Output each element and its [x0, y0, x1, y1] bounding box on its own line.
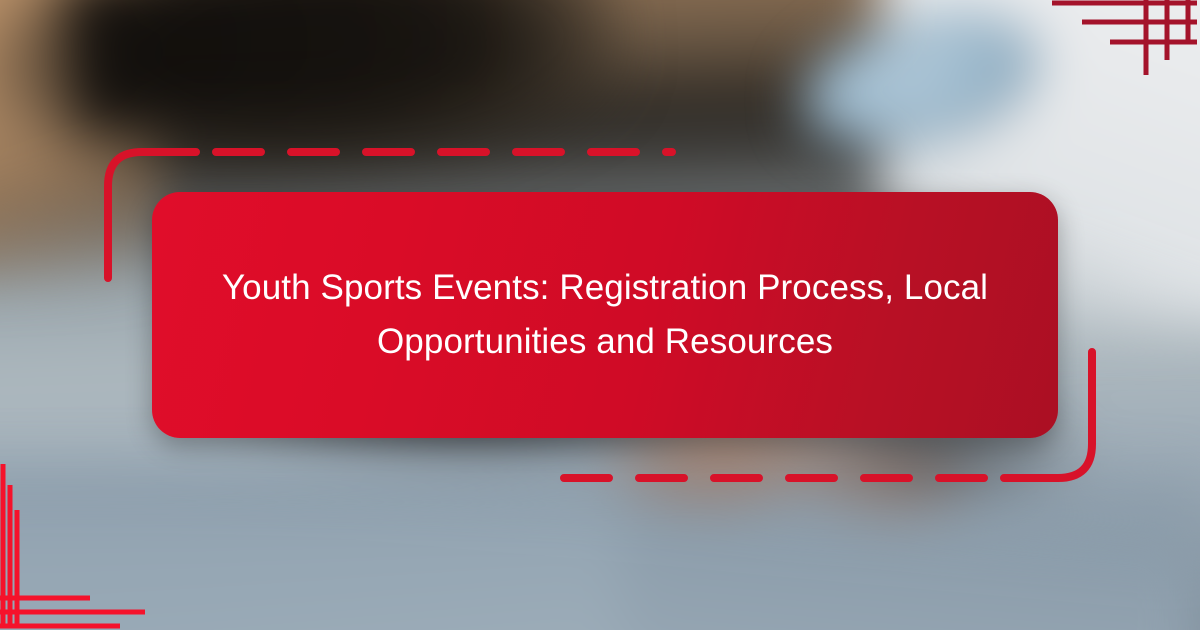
share-card-canvas: Youth Sports Events: Registration Proces… — [0, 0, 1200, 630]
background-desk-front — [0, 510, 620, 630]
title-card: Youth Sports Events: Registration Proces… — [152, 192, 1058, 438]
page-title: Youth Sports Events: Registration Proces… — [175, 261, 1035, 369]
